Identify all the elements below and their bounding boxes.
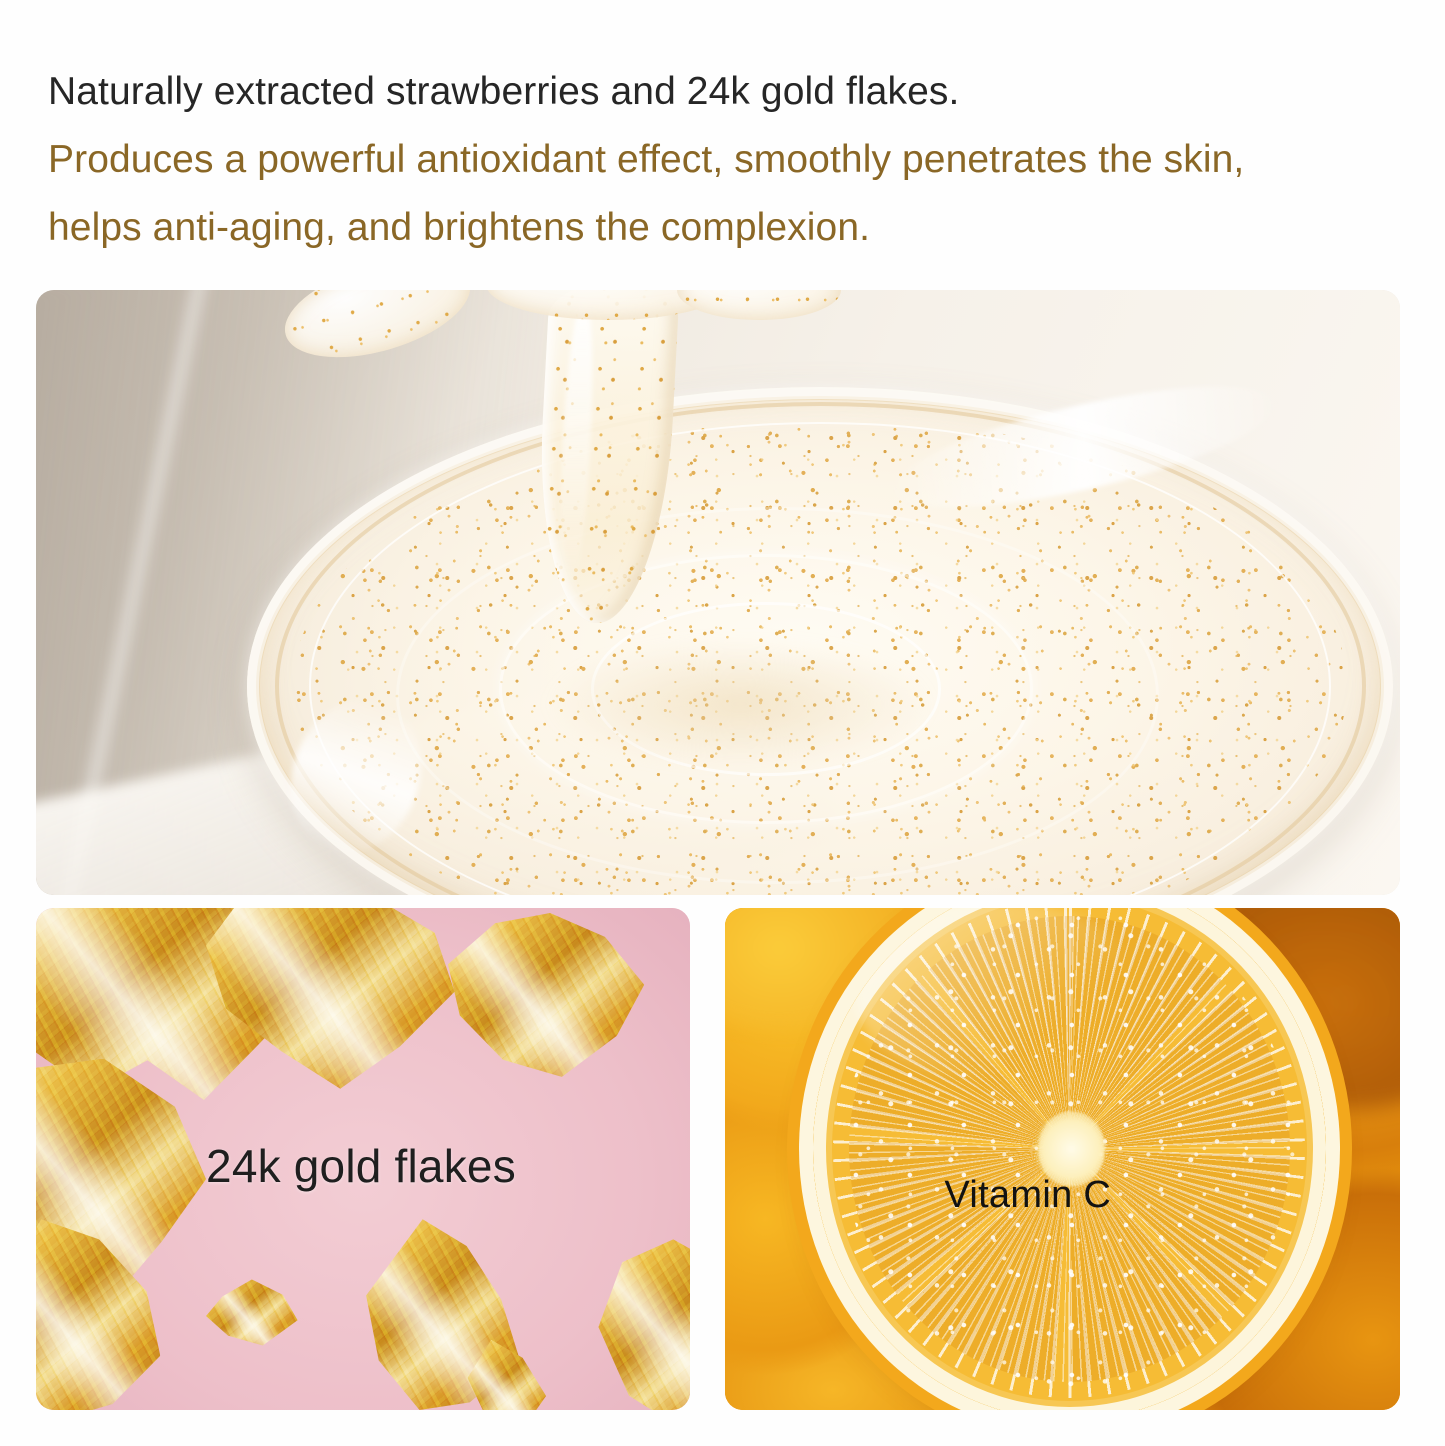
gold-flakes-caption: 24k gold flakes (206, 1139, 516, 1193)
headline-line-1: Naturally extracted strawberries and 24k… (48, 58, 1418, 126)
hero-image-serum-petri-dish (36, 290, 1400, 895)
vitamin-c-caption: Vitamin C (944, 1174, 1111, 1217)
gold-flakes-panel: 24k gold flakes (36, 908, 690, 1410)
vitamin-c-panel: Vitamin C (725, 908, 1400, 1410)
headline-line-3: helps anti-aging, and brightens the comp… (48, 194, 1418, 262)
orange-shine (854, 908, 1141, 1084)
halved-orange (813, 908, 1326, 1410)
headline-line-2: Produces a powerful antioxidant effect, … (48, 126, 1418, 194)
product-detail-page: Naturally extracted strawberries and 24k… (0, 0, 1445, 1446)
headline-copy-block: Naturally extracted strawberries and 24k… (48, 58, 1418, 262)
